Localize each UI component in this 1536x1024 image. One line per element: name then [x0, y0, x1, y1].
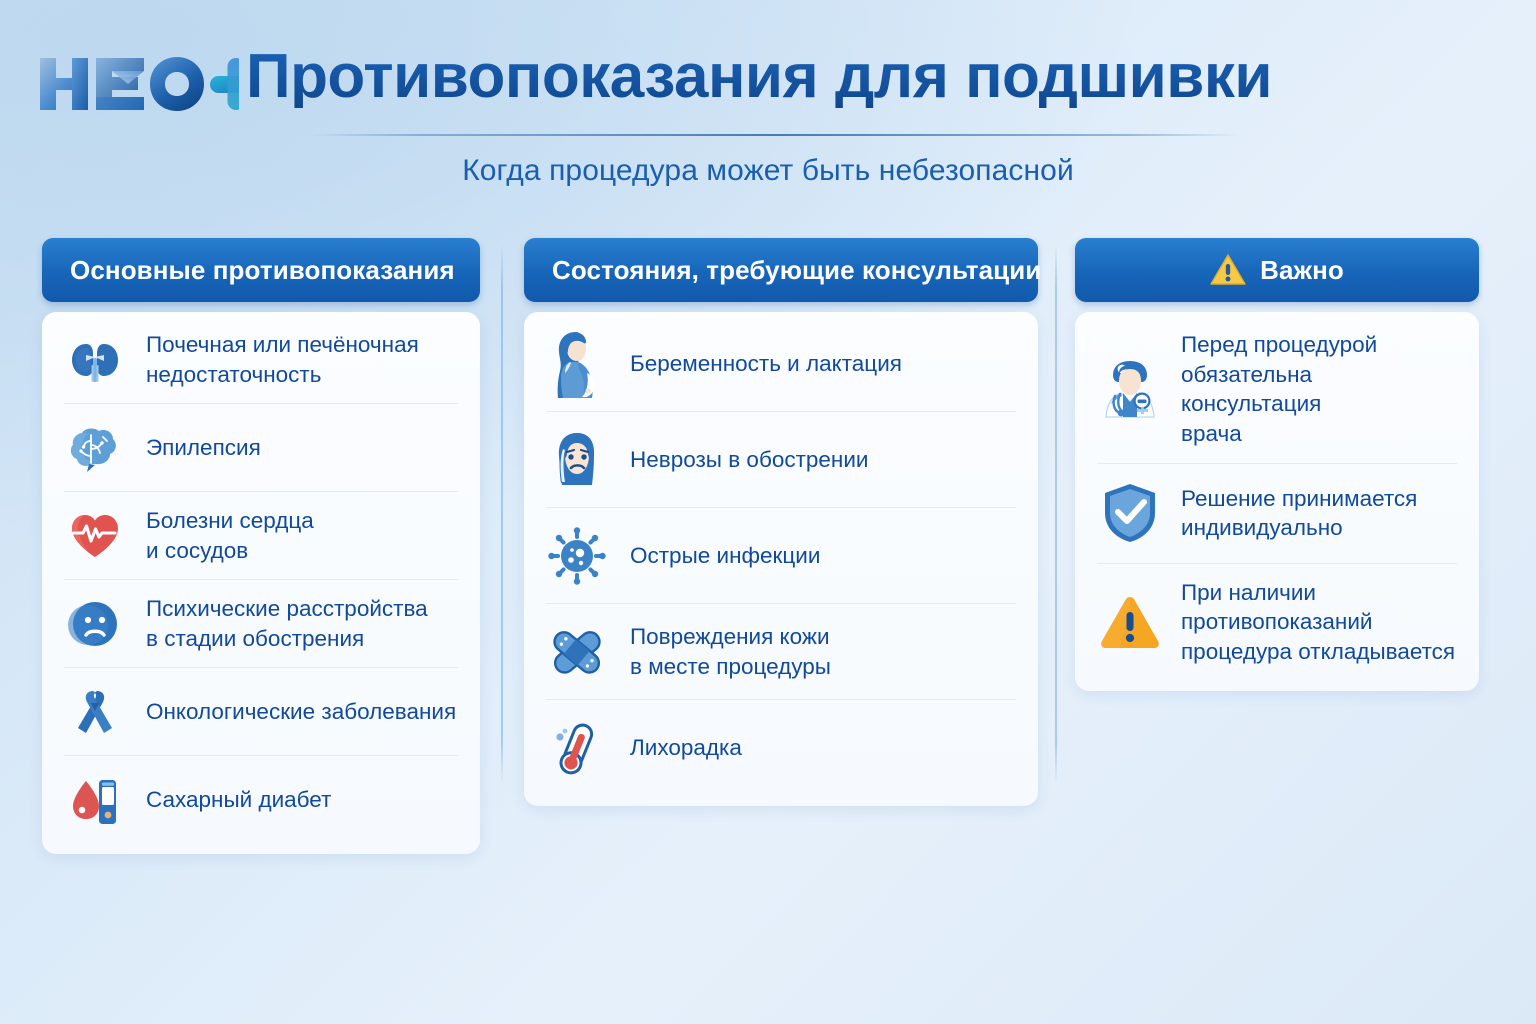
list-item[interactable]: Эпилепсия	[64, 404, 458, 492]
doctor-icon	[1097, 356, 1163, 422]
column-header-label: Основные противопоказания	[70, 255, 455, 286]
heart-pulse-icon	[64, 505, 126, 567]
list-item[interactable]: Неврозы в обострении	[546, 412, 1016, 508]
list-item-label: Повреждения кожи в месте процедуры	[630, 622, 831, 681]
list-item-label: Болезни сердца и сосудов	[146, 506, 314, 565]
column-body-consultation-required: Беременность и лактация	[524, 312, 1038, 806]
list-item-label: Онкологические заболевания	[146, 697, 456, 727]
pregnant-woman-icon	[546, 333, 608, 395]
column-header-label: Состояния, требующие консультации	[552, 255, 1041, 286]
page-subtitle: Когда процедура может быть небезопасной	[0, 154, 1536, 188]
blood-drop-glucometer-icon	[64, 769, 126, 831]
list-item-label: Неврозы в обострении	[630, 445, 869, 475]
list-item[interactable]: Перед процедурой обязательна консультаци…	[1097, 316, 1457, 464]
awareness-ribbon-icon	[64, 681, 126, 743]
shield-check-icon	[1097, 480, 1163, 546]
warning-triangle-icon	[1210, 253, 1246, 287]
neo-plus-logo-icon	[34, 50, 239, 116]
column-important: Важно	[1075, 238, 1479, 691]
column-divider-2	[1055, 244, 1057, 784]
list-item-label: Психические расстройства в стадии обостр…	[146, 594, 428, 653]
list-item-label: Сахарный диабет	[146, 785, 331, 815]
sad-face-icon	[64, 593, 126, 655]
list-item[interactable]: Лихорадка	[546, 700, 1016, 796]
list-item-label: Острые инфекции	[630, 541, 820, 571]
column-header-consultation-required: Состояния, требующие консультации	[524, 238, 1038, 302]
bandages-icon	[546, 621, 608, 683]
list-item[interactable]: Острые инфекции	[546, 508, 1016, 604]
list-item-label: Эпилепсия	[146, 433, 261, 463]
stressed-woman-icon	[546, 429, 608, 491]
list-item[interactable]: Болезни сердца и сосудов	[64, 492, 458, 580]
list-item-label: Почечная или печёночная недостаточность	[146, 330, 419, 389]
list-item[interactable]: Почечная или печёночная недостаточность	[64, 316, 458, 404]
column-header-label: Важно	[1260, 255, 1344, 286]
list-item[interactable]: Онкологические заболевания	[64, 668, 458, 756]
column-divider-1	[501, 244, 503, 784]
virus-icon	[546, 525, 608, 587]
column-consultation-required: Состояния, требующие консультации	[524, 238, 1038, 806]
list-item[interactable]: При наличии противопоказаний процедура о…	[1097, 564, 1457, 681]
column-header-important: Важно	[1075, 238, 1479, 302]
page-header: Противопоказания для подшивки Когда проц…	[0, 0, 1536, 210]
column-body-main-contraindications: Почечная или печёночная недостаточность	[42, 312, 480, 854]
thermometer-icon	[546, 717, 608, 779]
list-item-label: Лихорадка	[630, 733, 742, 763]
list-item[interactable]: Беременность и лактация	[546, 316, 1016, 412]
list-item[interactable]: Решение принимается индивидуально	[1097, 464, 1457, 564]
list-item-label: Перед процедурой обязательна консультаци…	[1181, 330, 1457, 449]
brain-icon	[64, 417, 126, 479]
list-item-label: При наличии противопоказаний процедура о…	[1181, 578, 1455, 667]
page-title: Противопоказания для подшивки	[246, 46, 1272, 108]
list-item-label: Беременность и лактация	[630, 349, 902, 379]
content-columns: Основные противопоказания Поче	[0, 238, 1536, 938]
list-item[interactable]: Сахарный диабет	[64, 756, 458, 844]
brand-logo	[34, 50, 239, 116]
list-item[interactable]: Повреждения кожи в месте процедуры	[546, 604, 1016, 700]
list-item[interactable]: Психические расстройства в стадии обостр…	[64, 580, 458, 668]
title-divider	[310, 134, 1240, 136]
column-main-contraindications: Основные противопоказания Поче	[42, 238, 480, 854]
column-body-important: Перед процедурой обязательна консультаци…	[1075, 312, 1479, 691]
kidneys-icon	[64, 329, 126, 391]
warning-triangle-icon	[1097, 589, 1163, 655]
list-item-label: Решение принимается индивидуально	[1181, 484, 1417, 543]
column-header-main-contraindications: Основные противопоказания	[42, 238, 480, 302]
